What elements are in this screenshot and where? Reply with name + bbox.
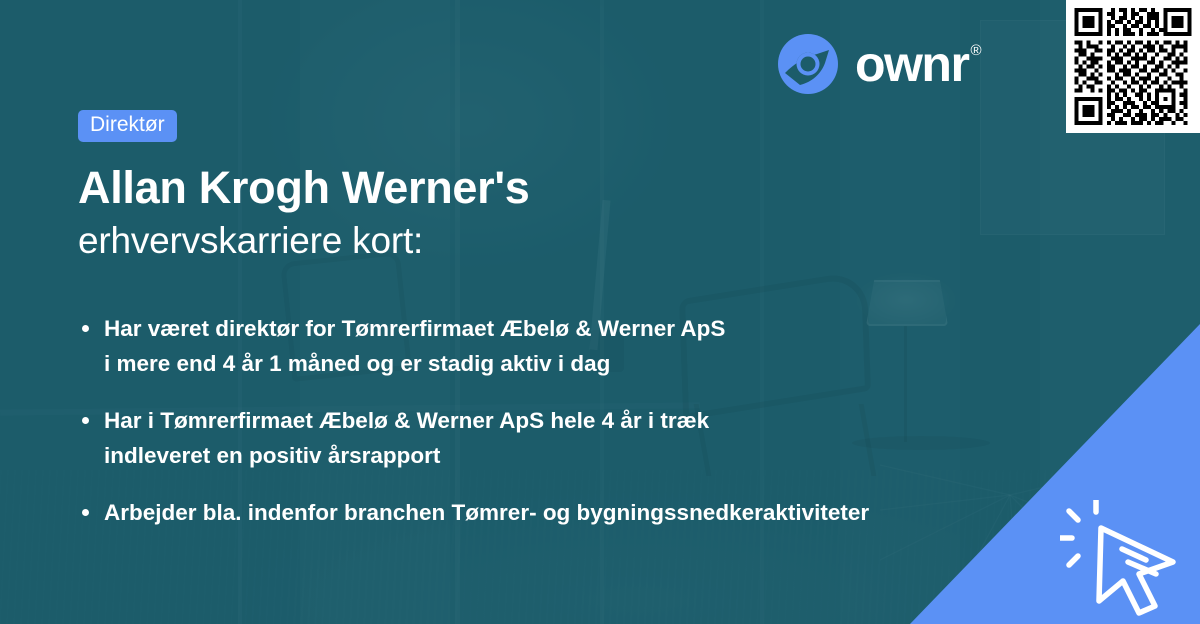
page-subtitle: erhvervskarriere kort:: [78, 221, 1038, 262]
bullet-icon: [82, 417, 89, 424]
bullet-icon: [82, 325, 89, 332]
fact-line-2: i mere end 4 år 1 måned og er stadig akt…: [104, 347, 1078, 382]
fact-line-1: Arbejder bla. indenfor branchen Tømrer- …: [104, 500, 869, 525]
fact-line-2: indleveret en positiv årsrapport: [104, 439, 1078, 474]
list-item: Arbejder bla. indenfor branchen Tømrer- …: [78, 496, 1078, 531]
qr-code-icon[interactable]: [1066, 0, 1200, 133]
ownr-wordmark-text: ownr: [855, 39, 968, 89]
list-item: Har i Tømrerfirmaet Æbelø & Werner ApS h…: [78, 404, 1078, 474]
career-facts-list: Har været direktør for Tømrerfirmaet Æbe…: [78, 312, 1078, 530]
role-badge: Direktør: [78, 110, 177, 142]
career-card: ownr ® Direktør Allan Krogh Werner's erh…: [0, 0, 1200, 624]
ownr-circle-swirl-icon: [777, 33, 839, 95]
headline-block: Direktør Allan Krogh Werner's erhvervska…: [78, 110, 1038, 262]
fact-line-1: Har været direktør for Tømrerfirmaet Æbe…: [104, 316, 725, 341]
ownr-logo[interactable]: ownr ®: [777, 33, 982, 95]
registered-trademark-icon: ®: [970, 43, 981, 58]
fact-line-1: Har i Tømrerfirmaet Æbelø & Werner ApS h…: [104, 408, 709, 433]
page-title: Allan Krogh Werner's: [78, 164, 1038, 211]
ownr-wordmark: ownr ®: [855, 39, 982, 89]
list-item: Har været direktør for Tømrerfirmaet Æbe…: [78, 312, 1078, 382]
click-cursor-icon: [1060, 500, 1188, 618]
bullet-icon: [82, 509, 89, 516]
